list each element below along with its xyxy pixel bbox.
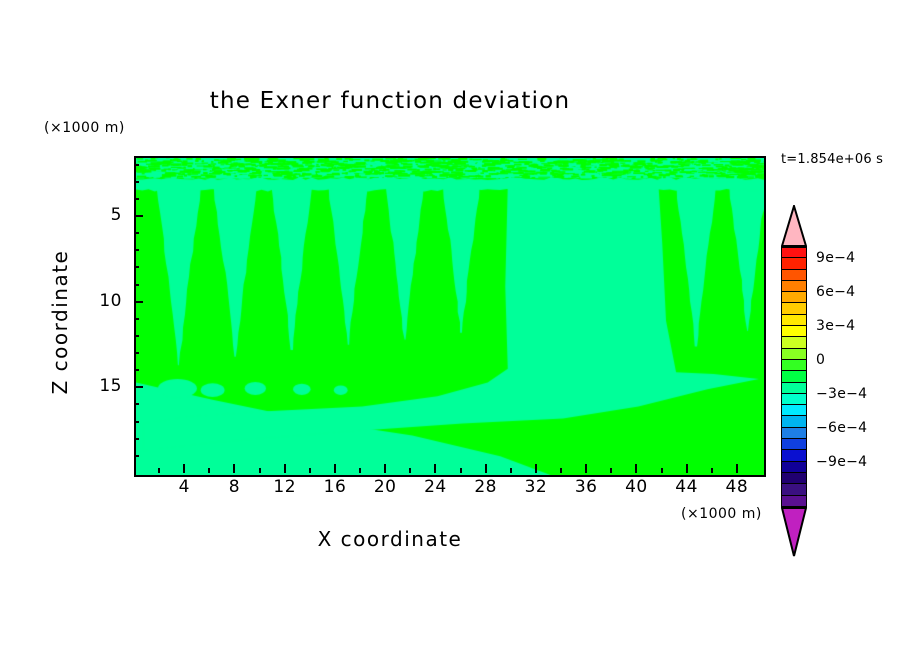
colorbar-tick-label-layer: 9e−46e−43e−40−3e−4−6e−4−9e−4 xyxy=(0,0,904,654)
colorbar-tick-label: 6e−4 xyxy=(816,284,855,300)
colorbar-tick-label: −9e−4 xyxy=(816,454,867,470)
colorbar-tick-label: −6e−4 xyxy=(816,420,867,436)
colorbar-tick-label: 9e−4 xyxy=(816,250,855,266)
colorbar-tick-label: 3e−4 xyxy=(816,318,855,334)
colorbar-tick-label: 0 xyxy=(816,352,825,368)
colorbar-tick-label: −3e−4 xyxy=(816,386,867,402)
